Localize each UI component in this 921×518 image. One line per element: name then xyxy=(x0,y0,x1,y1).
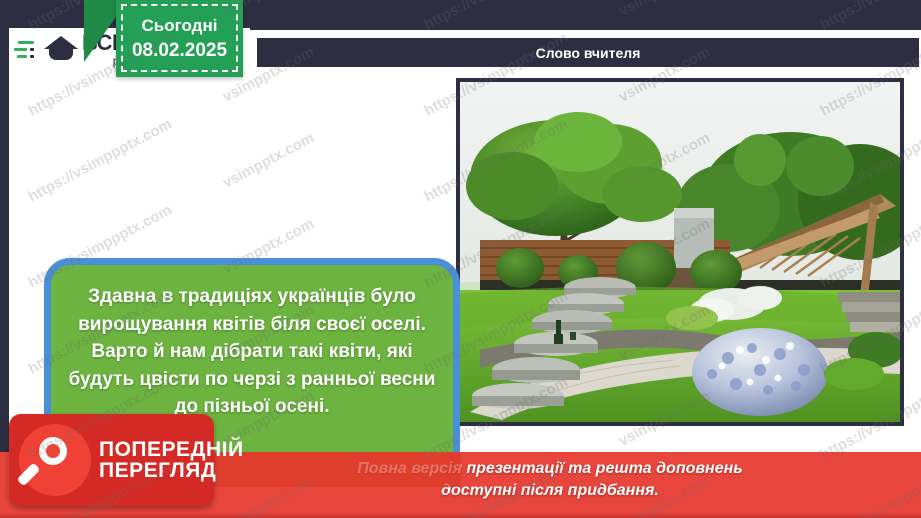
date-badge-value: 08.02.2025 xyxy=(132,40,227,62)
preview-badge-line2: ПЕРЕГЛЯД xyxy=(99,460,244,481)
preview-badge[interactable]: ПОПЕРЕДНІЙ ПЕРЕГЛЯД xyxy=(9,414,214,506)
preview-badge-label: ПОПЕРЕДНІЙ ПЕРЕГЛЯД xyxy=(99,439,244,482)
magnifier-icon xyxy=(19,424,91,496)
garden-illustration xyxy=(460,82,900,422)
date-badge-label: Сьогодні xyxy=(142,16,218,36)
speed-lines-icon xyxy=(14,36,40,62)
page-title: Слово вчителя xyxy=(536,45,641,61)
watermark-text: vsimpptx.com xyxy=(220,129,317,191)
top-dark-band-right xyxy=(250,0,921,30)
presentation-slide: ВСІМ pptx Сьогодні 08.02.2025 Слово вчит… xyxy=(0,0,921,518)
date-badge: Сьогодні 08.02.2025 xyxy=(116,0,243,77)
watermark-text: https://vsimppptx.com xyxy=(25,115,174,205)
preview-badge-line1: ПОПЕРЕДНІЙ xyxy=(99,439,244,460)
garden-landscape-image xyxy=(456,78,904,426)
left-vertical-rail xyxy=(0,0,9,518)
slide-title-bar: Слово вчителя xyxy=(257,38,919,67)
content-text: Здавна в традиціях українців було вирощу… xyxy=(67,283,437,421)
graduation-cap-icon xyxy=(44,34,78,64)
